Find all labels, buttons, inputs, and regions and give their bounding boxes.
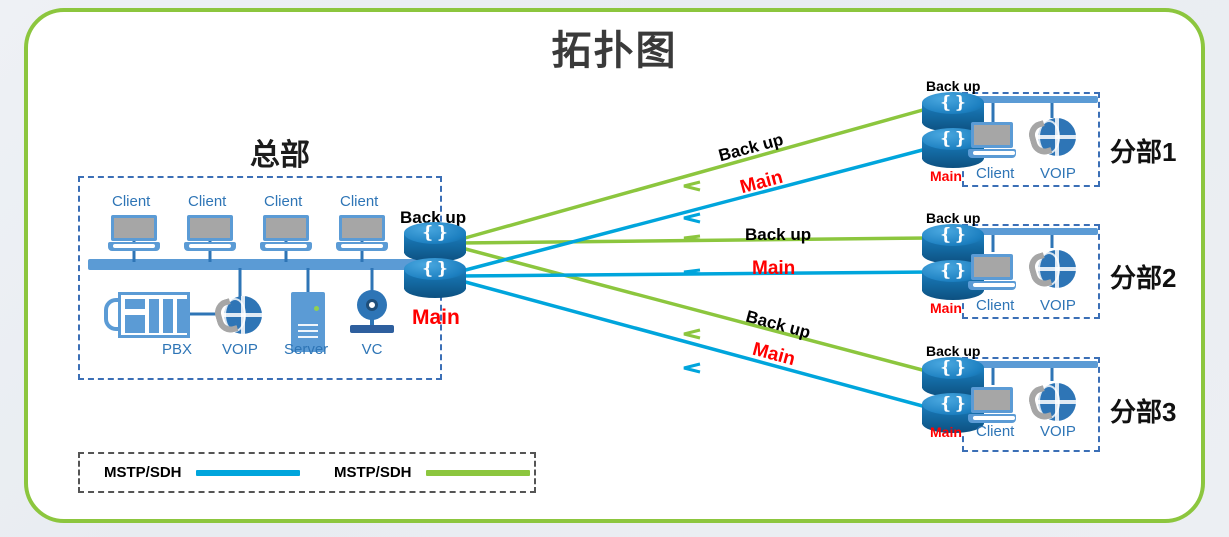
laptop-icon bbox=[968, 122, 1016, 162]
legend: MSTP/SDH MSTP/SDH bbox=[78, 452, 536, 493]
hq-router-label-main: Main bbox=[412, 306, 460, 330]
hq-device-label-voip: VOIP bbox=[222, 342, 262, 357]
laptop-icon bbox=[108, 215, 160, 255]
link-label-backup-branch2: Back up bbox=[745, 225, 811, 245]
legend-item-mstp-green: MSTP/SDH bbox=[334, 462, 524, 486]
branch-1-router-label-main: Main bbox=[930, 168, 962, 184]
branch-3-device-label-voip: VOIP bbox=[1040, 424, 1084, 439]
laptop-icon bbox=[336, 215, 388, 255]
pbx-icon bbox=[104, 292, 190, 338]
router-icon: ❴❵ bbox=[404, 222, 466, 262]
hq-client-label-3: Client bbox=[264, 194, 308, 209]
branch-1-name: 分部1 bbox=[1110, 132, 1176, 169]
branch-1-device-label-voip: VOIP bbox=[1040, 166, 1084, 181]
globe-phone-icon bbox=[1030, 118, 1076, 164]
branch-2-device-label-voip: VOIP bbox=[1040, 298, 1084, 313]
laptop-icon bbox=[968, 254, 1016, 294]
legend-label-1: MSTP/SDH bbox=[104, 464, 182, 481]
legend-swatch-green bbox=[426, 470, 530, 476]
legend-swatch-blue bbox=[196, 470, 300, 476]
hq-title: 总部 bbox=[180, 130, 380, 174]
globe-phone-icon bbox=[216, 296, 262, 342]
video-camera-icon bbox=[348, 290, 396, 338]
link-label-main-branch2: Main bbox=[752, 258, 795, 280]
branch-2-router-label-main: Main bbox=[930, 300, 962, 316]
branch-3-router-label-main: Main bbox=[930, 424, 962, 440]
laptop-icon bbox=[184, 215, 236, 255]
hq-device-label-vc: VC bbox=[350, 342, 394, 357]
legend-label-2: MSTP/SDH bbox=[334, 464, 412, 481]
globe-phone-icon bbox=[1030, 250, 1076, 296]
hq-client-label-2: Client bbox=[188, 194, 232, 209]
branch-3-device-label-client: Client bbox=[976, 424, 1020, 439]
hq-device-label-server: Server bbox=[284, 342, 332, 357]
router-icon: ❴❵ bbox=[404, 258, 466, 298]
hq-device-label-pbx: PBX bbox=[152, 342, 202, 357]
branch-1-device-label-client: Client bbox=[976, 166, 1020, 181]
branch-2-name: 分部2 bbox=[1110, 258, 1176, 295]
branch-3-name: 分部3 bbox=[1110, 392, 1176, 429]
hq-client-label-4: Client bbox=[340, 194, 384, 209]
topology-diagram: 拓扑图 bbox=[0, 0, 1229, 537]
branch-2-device-label-client: Client bbox=[976, 298, 1020, 313]
laptop-icon bbox=[260, 215, 312, 255]
hq-client-label-1: Client bbox=[112, 194, 156, 209]
legend-item-mstp-blue: MSTP/SDH bbox=[104, 462, 284, 486]
laptop-icon bbox=[968, 387, 1016, 427]
